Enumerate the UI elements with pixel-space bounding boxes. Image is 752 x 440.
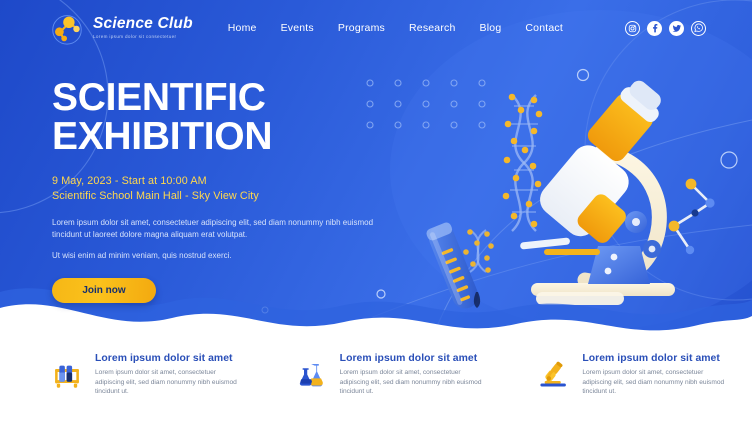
hero-copy: SCIENTIFIC EXHIBITION 9 May, 2023 - Star… [52,78,402,303]
feature-card-2[interactable]: Lorem ipsum dolor sit amet Lorem ipsum d… [265,352,510,440]
hero-paragraph-2: Ut wisi enim ad minim veniam, quis nostr… [52,250,382,262]
brand-tagline: Lorem ipsum dolor sit consectetuer [93,35,193,40]
brand-name: Science Club [93,16,193,32]
facebook-icon[interactable] [647,21,662,36]
nav-item-contact[interactable]: Contact [525,22,563,34]
feature-title-1: Lorem ipsum dolor sit amet [95,352,245,365]
whatsapp-icon[interactable] [691,21,706,36]
feature-card-1[interactable]: Lorem ipsum dolor sit amet Lorem ipsum d… [0,352,265,440]
nav-item-research[interactable]: Research [409,22,456,34]
nav-item-home[interactable]: Home [228,22,257,34]
instagram-icon[interactable] [625,21,640,36]
landing-page: Science Club Lorem ipsum dolor sit conse… [0,0,752,440]
hero-section: Science Club Lorem ipsum dolor sit conse… [0,0,752,345]
feature-cards: Lorem ipsum dolor sit amet Lorem ipsum d… [0,352,752,440]
feature-title-2: Lorem ipsum dolor sit amet [340,352,490,365]
hero-title-line2: EXHIBITION [52,117,402,156]
feature-card-3[interactable]: Lorem ipsum dolor sit amet Lorem ipsum d… [509,352,752,440]
test-tube-rack-icon [50,358,84,392]
brand-logo-group[interactable]: Science Club Lorem ipsum dolor sit conse… [48,9,193,47]
page-title: SCIENTIFIC EXHIBITION [52,78,402,156]
nav-menu: Home Events Programs Research Blog Conta… [228,22,563,34]
event-venue: Scientific School Main Hall - Sky View C… [52,189,402,204]
nav-item-events[interactable]: Events [281,22,314,34]
social-links [625,21,706,36]
event-meta: 9 May, 2023 - Start at 10:00 AM Scientif… [52,174,402,204]
feature-title-3: Lorem ipsum dolor sit amet [582,352,732,365]
event-date: 9 May, 2023 - Start at 10:00 AM [52,174,402,189]
flask-icon [295,358,329,392]
molecule-icon [48,9,86,47]
feature-desc-1: Lorem ipsum dolor sit amet, consectetuer… [95,368,245,397]
twitter-icon[interactable] [669,21,684,36]
join-now-button[interactable]: Join now [52,278,156,303]
hero-paragraph-1: Lorem ipsum dolor sit amet, consectetuer… [52,217,382,240]
nav-item-programs[interactable]: Programs [338,22,385,34]
top-navigation: Science Club Lorem ipsum dolor sit conse… [0,0,752,56]
feature-desc-2: Lorem ipsum dolor sit amet, consectetuer… [340,368,490,397]
feature-desc-3: Lorem ipsum dolor sit amet, consectetuer… [582,368,732,397]
hero-title-line1: SCIENTIFIC [52,76,266,119]
microscope-icon [537,358,571,392]
nav-item-blog[interactable]: Blog [480,22,502,34]
